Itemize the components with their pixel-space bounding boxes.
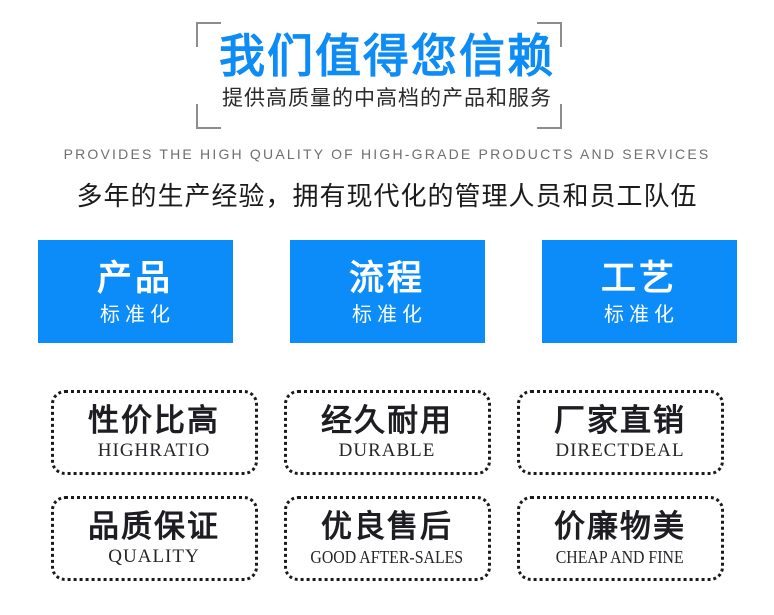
- feature-card-title: 厂家直销: [554, 405, 686, 438]
- feature-card-subtitle: CHEAP AND FINE: [556, 548, 684, 566]
- standard-box-process: 流程 标准化: [290, 240, 485, 343]
- standard-box-title: 流程: [349, 261, 425, 298]
- page-title: 我们值得您信赖: [0, 33, 774, 79]
- feature-card-direct-deal: 厂家直销 DIRECTDEAL: [517, 390, 724, 475]
- feature-card-title: 性价比高: [88, 405, 220, 438]
- page-subtitle: 提供高质量的中高档的产品和服务: [0, 88, 774, 109]
- feature-card-cheap-and-fine: 价廉物美 CHEAP AND FINE: [517, 496, 724, 581]
- english-caption: PROVIDES THE HIGH QUALITY OF HIGH-GRADE …: [0, 146, 774, 162]
- feature-card-row-2: 品质保证 QUALITY 优良售后 GOOD AFTER-SALES 价廉物美 …: [0, 496, 774, 581]
- feature-card-subtitle: HIGHRATIO: [98, 441, 210, 460]
- standard-box-title: 工艺: [601, 261, 677, 298]
- feature-card-title: 经久耐用: [321, 405, 453, 438]
- standard-box-product: 产品 标准化: [38, 240, 233, 343]
- promo-banner-page: { "hero": { "title": "我们值得您信赖", "subtitl…: [0, 0, 774, 615]
- feature-card-subtitle: DIRECTDEAL: [555, 441, 684, 460]
- standard-box-subtitle: 标准化: [95, 304, 175, 324]
- standard-box-subtitle: 标准化: [347, 304, 427, 324]
- feature-card-durable: 经久耐用 DURABLE: [284, 390, 491, 475]
- standard-box-craft: 工艺 标准化: [542, 240, 737, 343]
- feature-card-title: 优良售后: [321, 511, 453, 544]
- feature-card-subtitle: QUALITY: [108, 547, 199, 566]
- feature-card-quality: 品质保证 QUALITY: [51, 496, 258, 581]
- standard-box-subtitle: 标准化: [599, 304, 679, 324]
- feature-card-title: 品质保证: [88, 511, 220, 544]
- standard-box-title: 产品: [97, 261, 173, 298]
- standardization-box-row: 产品 标准化 流程 标准化 工艺 标准化: [0, 240, 774, 343]
- feature-card-title: 价廉物美: [554, 511, 686, 544]
- feature-card-subtitle: GOOD AFTER-SALES: [311, 548, 464, 566]
- feature-card-high-ratio: 性价比高 HIGHRATIO: [51, 390, 258, 475]
- tagline-text: 多年的生产经验，拥有现代化的管理人员和员工队伍: [0, 176, 774, 213]
- feature-card-after-sales: 优良售后 GOOD AFTER-SALES: [284, 496, 491, 581]
- feature-card-row-1: 性价比高 HIGHRATIO 经久耐用 DURABLE 厂家直销 DIRECTD…: [0, 390, 774, 475]
- feature-card-grid: 性价比高 HIGHRATIO 经久耐用 DURABLE 厂家直销 DIRECTD…: [0, 390, 774, 602]
- feature-card-subtitle: DURABLE: [339, 441, 436, 460]
- hero-section: 我们值得您信赖 提供高质量的中高档的产品和服务: [0, 0, 774, 140]
